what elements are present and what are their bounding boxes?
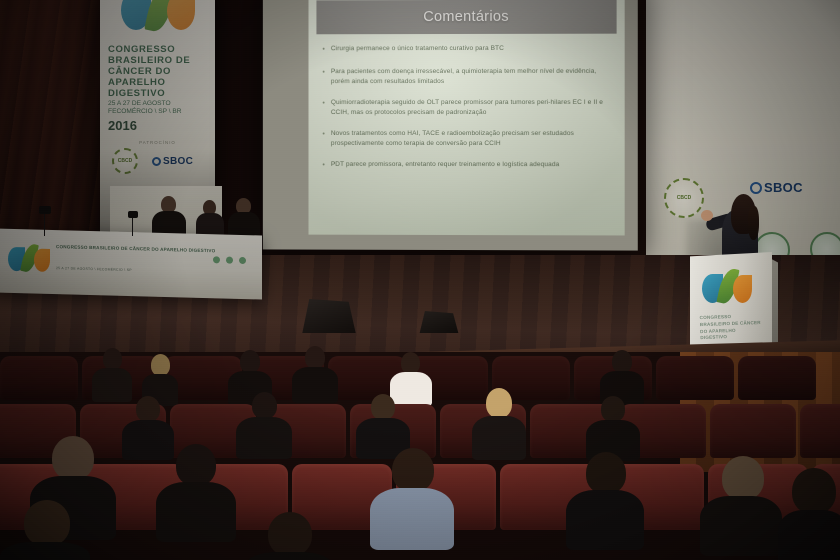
theater-seat: [656, 356, 734, 400]
presentation-slide: Comentários • Cirurgia permanece o único…: [308, 0, 624, 235]
head-table-logo-icon: [8, 241, 50, 276]
bullet-marker-icon: •: [322, 160, 324, 172]
bullet-marker-icon: •: [322, 98, 324, 118]
slide-title: Comentários: [423, 9, 509, 25]
theater-seat: [738, 356, 816, 400]
bullet-marker-icon: •: [322, 67, 324, 87]
banner-sponsor-label: Patrocínio: [100, 140, 215, 145]
banner-venue-line: FECOMÉRCIO \ SP \ BR: [108, 108, 214, 116]
bullet-text: Cirurgia permanece o único tratamento cu…: [331, 44, 504, 56]
sboc-ring-icon: [152, 157, 161, 166]
theater-seat: [710, 404, 796, 458]
backdrop-sboc-ring-icon: [750, 182, 762, 194]
audience-member: [236, 392, 292, 458]
bullet-marker-icon: •: [322, 44, 324, 56]
banner-dates-line: 25 A 27 DE AGOSTO: [108, 100, 214, 108]
bullet-text: Para pacientes com doença irressecável, …: [331, 67, 615, 87]
bullet-marker-icon: •: [322, 129, 324, 149]
slide-bullet: • Novos tratamentos como HAI, TACE e rad…: [322, 129, 614, 149]
audience-member: [246, 512, 332, 560]
audience-area: [0, 352, 840, 560]
slide-bullet-list: • Cirurgia permanece o único tratamento …: [322, 44, 614, 184]
bullet-text: Quimiorradioterapia seguido de OLT parec…: [331, 98, 615, 118]
podium-title: CONGRESSO BRASILEIRO DE CÂNCER DO APAREL…: [700, 313, 763, 342]
audience-member: [778, 468, 840, 560]
audience-member: [292, 346, 338, 402]
slide-bullet: • PDT parece promissora, entretanto requ…: [322, 160, 614, 172]
speaker-hand: [701, 210, 713, 221]
microphone-stand: [132, 216, 133, 236]
backdrop-seal-cbcd-icon: CBCD: [664, 178, 704, 218]
slide-bullet: • Quimiorradioterapia seguido de OLT par…: [322, 98, 614, 118]
audience-member: [470, 388, 528, 458]
slide-bullet: • Cirurgia permanece o único tratamento …: [322, 44, 614, 56]
microphone-stand: [44, 212, 45, 236]
head-table-sponsor-marks: [213, 256, 246, 264]
theater-seat: [800, 404, 840, 458]
head-table-subtitle: 25 A 27 DE AGOSTO \ FECOMÉRCIO \ SP: [56, 266, 132, 272]
banner-title: CONGRESSO BRASILEIRO DE CÂNCER DO APAREL…: [108, 44, 214, 99]
sponsor-mark-icon: [226, 257, 233, 264]
slide-bullet: • Para pacientes com doença irressecável…: [322, 67, 614, 87]
sboc-label: SBOC: [163, 156, 193, 167]
speaker-hair-side: [748, 206, 759, 240]
backdrop-sboc-logo: SBOC: [750, 180, 803, 195]
audience-member: [0, 500, 90, 560]
microphone-icon: [128, 211, 138, 218]
projection-screen: 17:34 Comentários • Cirurgia permanece o…: [263, 0, 638, 251]
bullet-text: PDT parece promissora, entretanto requer…: [331, 160, 560, 172]
sponsor-seal-cbcd-icon: CBCD: [112, 148, 138, 174]
sponsor-mark-icon: [239, 257, 246, 264]
audience-member: [700, 456, 782, 552]
microphone-icon: [39, 206, 51, 214]
sponsor-mark-icon: [213, 256, 220, 263]
sponsor-sboc-logo: SBOC: [152, 156, 193, 167]
audience-member: [156, 444, 236, 540]
banner-year: 2016: [108, 118, 214, 133]
bullet-text: Novos tratamentos como HAI, TACE e radio…: [331, 129, 615, 149]
audience-member: [566, 452, 644, 546]
head-table: CONGRESSO BRASILEIRO DE CÂNCER DO APAREL…: [0, 228, 262, 299]
podium-logo-icon: [702, 266, 752, 308]
slide-title-bar: Comentários: [316, 0, 616, 34]
head-table-title: CONGRESSO BRASILEIRO DE CÂNCER DO APAREL…: [56, 244, 215, 255]
backdrop-sboc-label: SBOC: [764, 180, 803, 195]
theater-seat: [0, 356, 78, 400]
audience-member: [92, 348, 132, 400]
congress-logo-icon: [115, 0, 201, 34]
auditorium-photo: CONGRESSO BRASILEIRO DE CÂNCER DO APAREL…: [0, 0, 840, 560]
audience-member: [370, 448, 454, 546]
audience-member: [586, 396, 640, 460]
banner-dates: 25 A 27 DE AGOSTO FECOMÉRCIO \ SP \ BR: [108, 100, 214, 116]
